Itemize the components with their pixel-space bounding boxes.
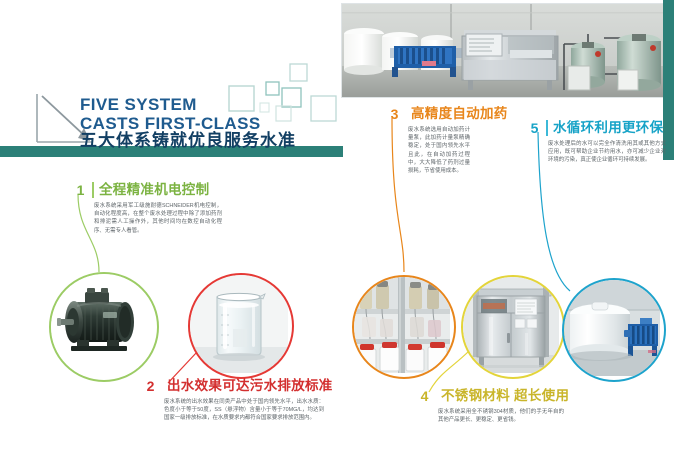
- photo-circle-4: [461, 275, 565, 379]
- section-2-number: 2: [144, 378, 157, 394]
- infographic-page: FIVE SYSTEM CASTS FIRST-CLASS 五大体系铸就优良服务…: [0, 0, 680, 465]
- clear-water-beaker-photo: [190, 275, 292, 377]
- cabinet-graphic: [463, 277, 559, 373]
- tank-graphic: [564, 280, 660, 376]
- section-4-heading: 不锈钢材料 超长使用: [441, 388, 569, 404]
- section-3-header: 3 高精度自动加药: [388, 106, 494, 122]
- section-5-number: 5: [528, 120, 541, 136]
- section-1-header: 1 全程精准机电控制: [74, 182, 222, 198]
- section-block-2: 2 出水效果可达污水排放标准 废水系统的出水效果在同类产品中处于国内领先水平，出…: [144, 378, 324, 423]
- top-facility-photo: [341, 3, 665, 98]
- section-5-accent-bar: [546, 120, 548, 136]
- page-title-english: FIVE SYSTEM CASTS FIRST-CLASS: [80, 95, 261, 133]
- beaker-graphic: [190, 275, 288, 373]
- section-block-1: 1 全程精准机电控制 废水系统采用军工级施耐德SCHNEIDER机电控制，自动化…: [74, 182, 222, 235]
- dosing-pump-photo: [354, 277, 454, 377]
- motor-graphic: [51, 274, 153, 376]
- water-tank-photo: [564, 280, 664, 380]
- motor-photo: [51, 274, 157, 380]
- section-4-body: 废水系统采用全不锈钢304材质，他们的手无年自的其他产品更长、更稳定、更省钱。: [438, 408, 564, 424]
- section-block-3: 3 高精度自动加药 废水系统选用自动加药计量泵，此加药计量泵精确稳定，处于国内领…: [388, 106, 494, 175]
- facility-photo-graphic: [342, 4, 664, 97]
- section-2-body: 废水系统的出水效果在同类产品中处于国内领先水平，出水水质：色度小于等于50度，S…: [164, 398, 324, 423]
- section-1-body: 废水系统采用军工级施耐德SCHNEIDER机电控制，自动化程度高，在整个废水处理…: [94, 202, 222, 235]
- photo-circle-2: [188, 273, 294, 379]
- section-3-heading: 高精度自动加药: [411, 106, 508, 122]
- section-2-header: 2 出水效果可达污水排放标准: [144, 378, 324, 394]
- section-5-body: 废水处理后的水可以完全作清洗用其或其他方式应用，既可帮助企业节约用水，亦可减少企…: [548, 140, 666, 165]
- photo-circle-5: [562, 278, 666, 382]
- section-block-5: 5 水循环利用更环保 废水处理后的水可以完全作清洗用其或其他方式应用，既可帮助企…: [528, 120, 666, 165]
- section-4-header: 4 不锈钢材料 超长使用: [418, 388, 564, 404]
- title-line-1: FIVE SYSTEM: [80, 95, 197, 114]
- section-3-number: 3: [388, 106, 401, 122]
- section-1-heading: 全程精准机电控制: [99, 182, 209, 198]
- photo-circle-3: [352, 275, 456, 379]
- section-5-header: 5 水循环利用更环保: [528, 120, 666, 136]
- section-block-4: 4 不锈钢材料 超长使用 废水系统采用全不锈钢304材质，他们的手无年自的其他产…: [418, 388, 564, 424]
- section-3-body: 废水系统选用自动加药计量泵，此加药计量泵精确稳定，处于国内领先水平且此，在自动加…: [408, 126, 470, 175]
- page-title-chinese: 五大体系铸就优良服务水准: [80, 131, 296, 150]
- section-1-accent-bar: [92, 182, 94, 198]
- stainless-cabinet-photo: [463, 277, 563, 377]
- section-4-number: 4: [418, 388, 431, 404]
- dosing-pump-graphic: [354, 277, 450, 373]
- section-5-heading: 水循环利用更环保: [553, 120, 663, 136]
- section-1-number: 1: [74, 182, 87, 198]
- photo-circle-1: [49, 272, 159, 382]
- section-2-heading: 出水效果可达污水排放标准: [167, 378, 333, 394]
